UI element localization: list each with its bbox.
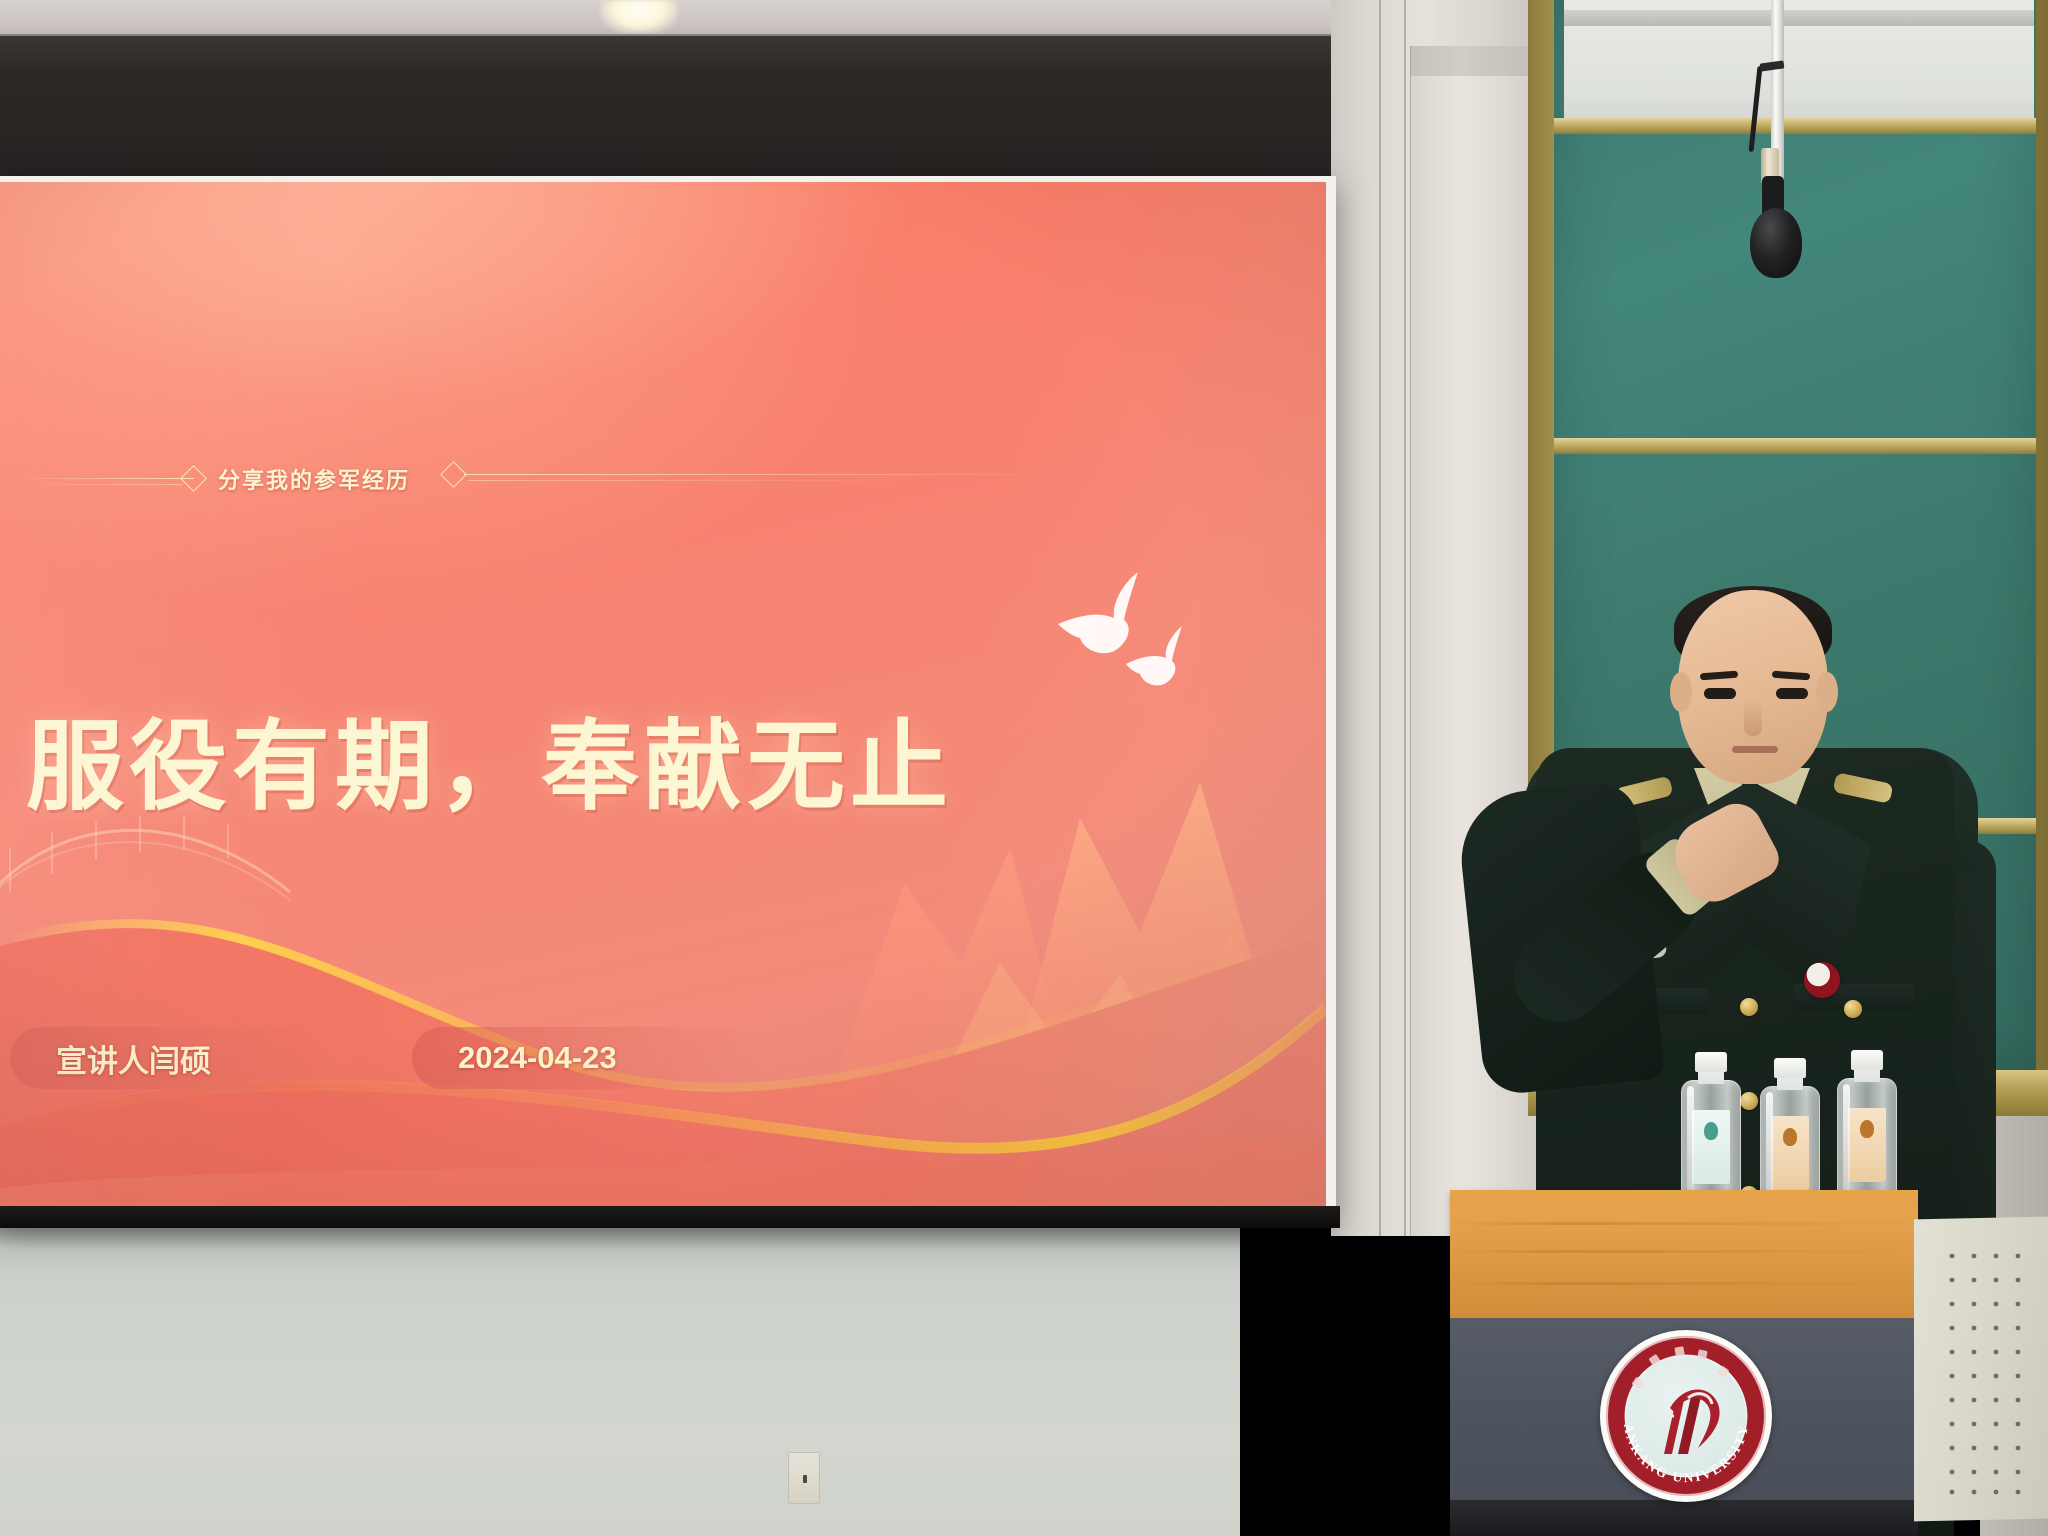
bottle-cap[interactable] <box>1851 1050 1883 1070</box>
presentation-slide[interactable]: 分享我的参军经历 服役有期，奉献无止 宣讲人闫硕 2024-04-23 <box>0 182 1326 1208</box>
bottle-neck <box>1854 1068 1880 1082</box>
chalkboard-top-rail <box>1564 10 2034 26</box>
pillar-seam <box>1404 0 1406 1236</box>
eye-right <box>1776 688 1808 699</box>
eye-left <box>1704 688 1736 699</box>
saluting-arm <box>1455 779 1665 1096</box>
lower-wall <box>0 1215 1240 1536</box>
ear-right <box>1816 672 1838 712</box>
pocket-button <box>1844 1000 1862 1018</box>
diamond-ornament-left <box>180 465 207 492</box>
pillar-inset-header <box>1410 46 1538 76</box>
bottle-cap[interactable] <box>1774 1058 1806 1078</box>
bottle-label-mark-icon <box>1704 1122 1718 1140</box>
nose <box>1744 700 1762 736</box>
slide-subtitle-row: 分享我的参军经历 <box>0 460 1326 498</box>
slide-meta-pills: 宣讲人闫硕 2024-04-23 <box>10 1027 762 1089</box>
slide-date-label: 2024-04-23 <box>458 1040 617 1076</box>
dove-icon-group <box>1052 566 1212 686</box>
uniform-button <box>1740 998 1758 1016</box>
dove-icon <box>1126 626 1182 685</box>
bottle-cap[interactable] <box>1695 1052 1727 1072</box>
slide-subtitle-text: 分享我的参军经历 <box>218 468 410 493</box>
ceiling-light <box>600 0 678 34</box>
slide-presenter-label: 宣讲人闫硕 <box>56 1036 211 1081</box>
logo-top-characters <box>1606 1336 1766 1496</box>
podium-base <box>1450 1500 1918 1536</box>
projection-screen-bottom-bar <box>0 1206 1340 1228</box>
slide-date-pill: 2024-04-23 <box>412 1027 762 1089</box>
slide-main-title: 服役有期，奉献无止 <box>26 687 953 829</box>
chalkboard-divider <box>1554 118 2036 134</box>
mouth <box>1732 746 1778 753</box>
slide-subtitle: 分享我的参军经历 <box>218 463 410 495</box>
soffit-dark-band <box>0 36 1350 186</box>
slide-top-glow <box>0 182 928 408</box>
face <box>1678 590 1828 784</box>
slide-presenter-pill: 宣讲人闫硕 <box>10 1027 350 1089</box>
dove-icon <box>1058 572 1138 653</box>
red-emblem-icon <box>1804 962 1840 998</box>
bottle-neck <box>1777 1076 1803 1090</box>
diamond-ornament-right <box>440 461 467 488</box>
speaker-grille-dots <box>1944 1248 2036 1498</box>
ear-left <box>1670 672 1692 712</box>
wall-outlet-plate[interactable] <box>788 1452 820 1504</box>
wall-outlet-hole <box>803 1475 807 1483</box>
pillar-seam <box>1379 0 1381 1236</box>
podium-wood-top <box>1450 1190 1918 1320</box>
bottle-label-mark-icon <box>1860 1120 1874 1138</box>
ornament-right <box>444 460 1204 498</box>
microphone-head-icon <box>1750 208 1802 278</box>
ornament-left <box>22 460 218 498</box>
lecture-hall-photo: 分享我的参军经历 服役有期，奉献无止 宣讲人闫硕 2024-04-23 <box>0 0 2048 1536</box>
bottle-neck <box>1698 1070 1724 1084</box>
bottle-label-mark-icon <box>1783 1128 1797 1146</box>
chalkboard-divider <box>1554 438 2036 454</box>
ankang-university-logo: ANKANG UNIVERSITY <box>1600 1330 1772 1502</box>
